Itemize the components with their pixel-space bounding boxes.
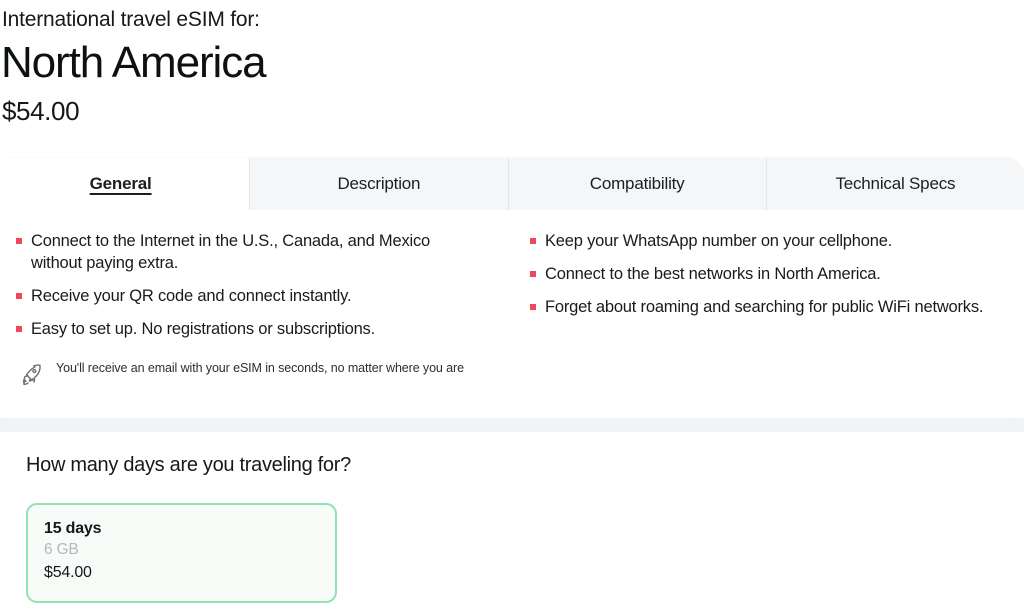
delivery-note: You'll receive an email with your eSIM i… <box>12 361 482 388</box>
tab-bar: General Description Compatibility Techni… <box>0 158 1024 210</box>
page-title: North America <box>0 36 1024 90</box>
plan-options: 15 days 6 GB $54.00 <box>26 503 1024 603</box>
plan-selection-section: How many days are you traveling for? 15 … <box>0 432 1024 610</box>
product-price: $54.00 <box>0 94 1024 128</box>
list-item: Receive your QR code and connect instant… <box>12 285 482 307</box>
plan-days: 15 days <box>44 518 319 539</box>
tab-panel-general: Connect to the Internet in the U.S., Can… <box>0 210 1024 388</box>
tab-general-label: General <box>90 174 152 194</box>
plan-question: How many days are you traveling for? <box>26 452 1024 478</box>
list-item: Forget about roaming and searching for p… <box>526 296 996 318</box>
plan-data-allowance: 6 GB <box>44 539 319 561</box>
list-item: Connect to the Internet in the U.S., Can… <box>12 230 482 274</box>
tab-compatibility[interactable]: Compatibility <box>508 158 766 210</box>
feature-column-right: Keep your WhatsApp number on your cellph… <box>502 230 996 388</box>
tab-description[interactable]: Description <box>249 158 507 210</box>
tab-general[interactable]: General <box>0 158 249 210</box>
delivery-note-text: You'll receive an email with your eSIM i… <box>56 361 464 376</box>
tab-compatibility-label: Compatibility <box>590 174 685 194</box>
tab-technical-specs[interactable]: Technical Specs <box>766 158 1024 210</box>
plan-price: $54.00 <box>44 561 319 584</box>
list-item: Easy to set up. No registrations or subs… <box>12 318 482 340</box>
rocket-icon <box>18 362 44 388</box>
product-header: International travel eSIM for: North Ame… <box>0 0 1024 128</box>
product-eyebrow: International travel eSIM for: <box>0 6 1024 34</box>
tab-description-label: Description <box>337 174 420 194</box>
info-card: General Description Compatibility Techni… <box>0 158 1024 418</box>
list-item: Keep your WhatsApp number on your cellph… <box>526 230 996 252</box>
plan-option-15-days[interactable]: 15 days 6 GB $54.00 <box>26 503 337 603</box>
feature-list-left: Connect to the Internet in the U.S., Can… <box>12 230 482 340</box>
section-divider <box>0 418 1024 432</box>
feature-column-left: Connect to the Internet in the U.S., Can… <box>12 230 482 388</box>
feature-list-right: Keep your WhatsApp number on your cellph… <box>526 230 996 318</box>
tab-technical-specs-label: Technical Specs <box>835 174 955 194</box>
list-item: Connect to the best networks in North Am… <box>526 263 996 285</box>
